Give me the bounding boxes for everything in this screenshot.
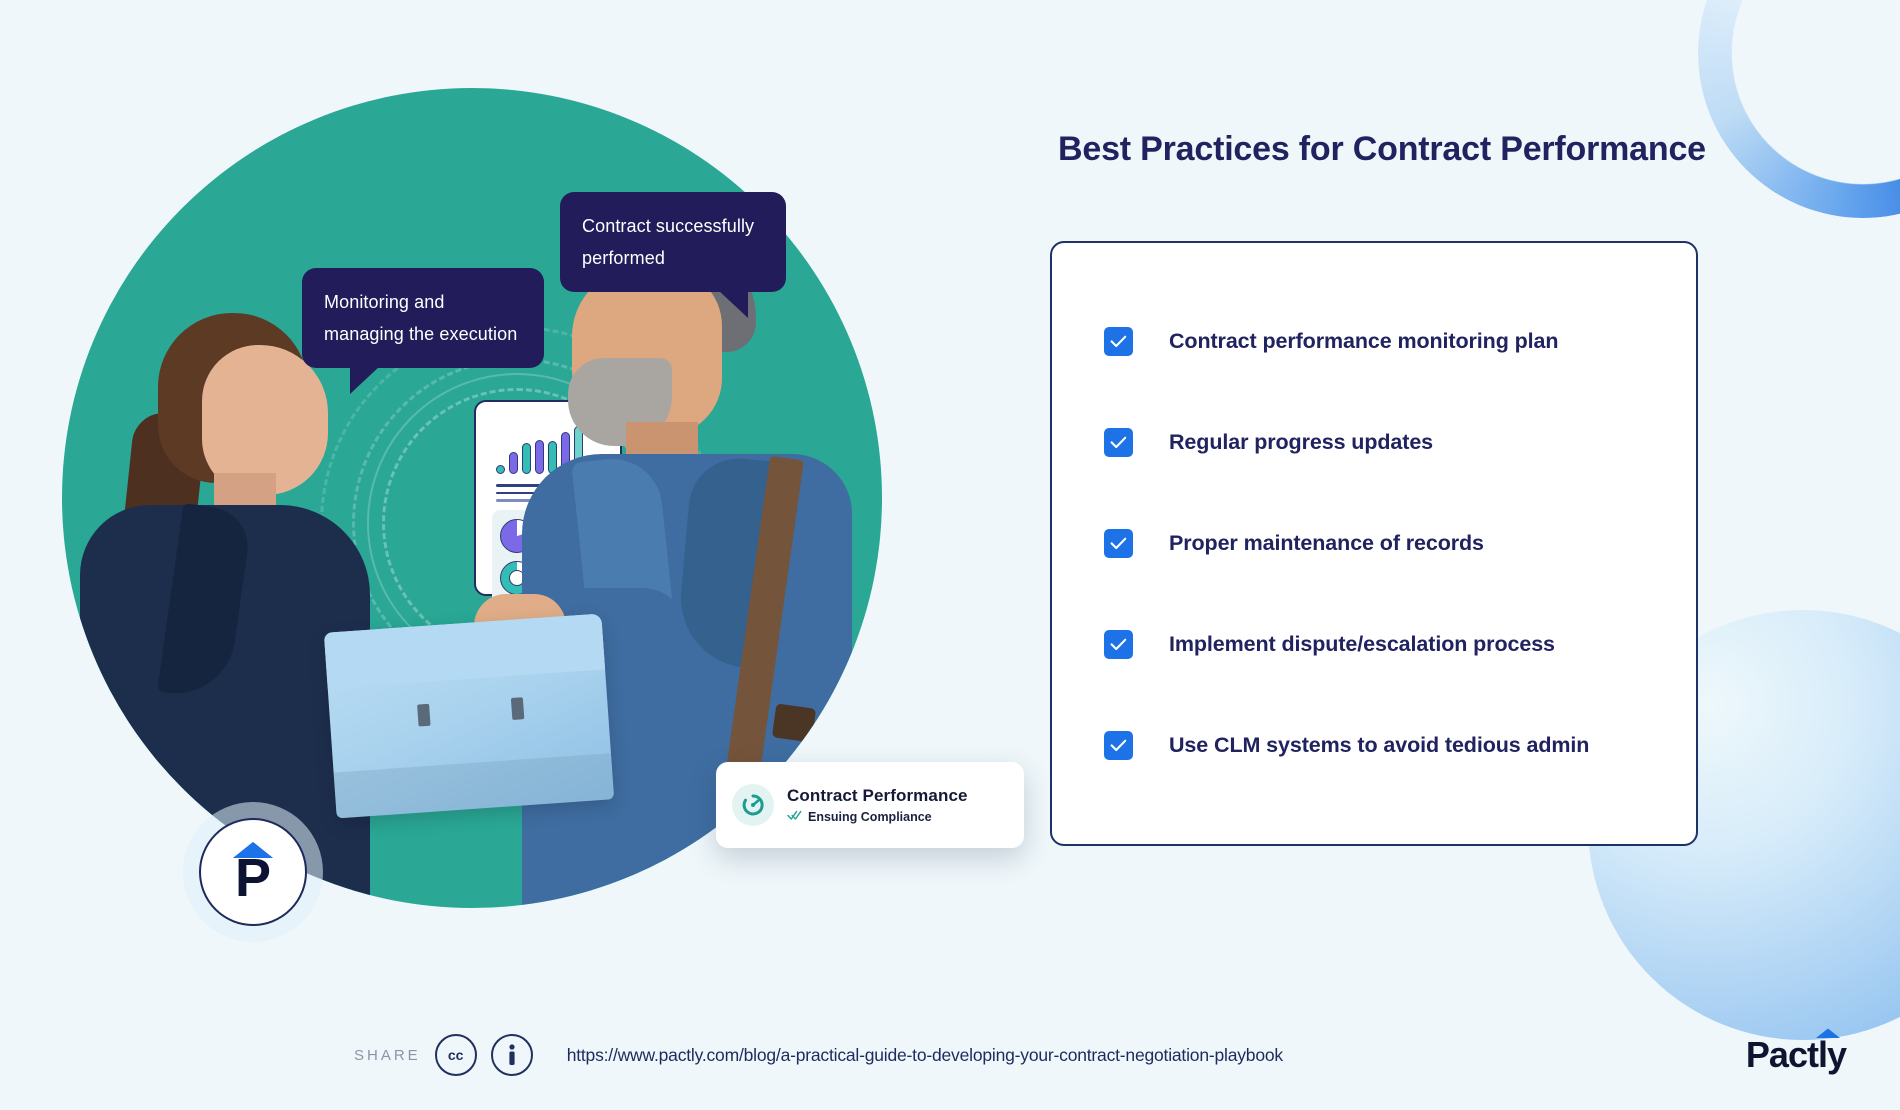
checkbox-checked-icon[interactable] bbox=[1104, 731, 1133, 760]
checklist-item-label: Use CLM systems to avoid tedious admin bbox=[1169, 733, 1589, 758]
infographic-canvas: Monitoring and managing the execution Co… bbox=[0, 0, 1900, 1110]
pactly-chevron-icon bbox=[1815, 1026, 1841, 1044]
speech-bubble-monitoring: Monitoring and managing the execution bbox=[302, 268, 544, 368]
pactly-chevron-icon bbox=[231, 840, 275, 865]
illustration-panel: Monitoring and managing the execution Co… bbox=[52, 70, 882, 920]
contract-performance-notification[interactable]: Contract Performance Ensuing Compliance bbox=[716, 762, 1024, 848]
notification-subtitle: Ensuing Compliance bbox=[808, 810, 932, 824]
notification-title: Contract Performance bbox=[787, 786, 968, 806]
checklist-item-label: Contract performance monitoring plan bbox=[1169, 329, 1558, 354]
checkbox-checked-icon[interactable] bbox=[1104, 630, 1133, 659]
content-panel: Best Practices for Contract Performance … bbox=[1050, 130, 1850, 846]
best-practices-card: Contract performance monitoring plan Reg… bbox=[1050, 241, 1698, 846]
checkbox-checked-icon[interactable] bbox=[1104, 529, 1133, 558]
checklist-item[interactable]: Use CLM systems to avoid tedious admin bbox=[1104, 695, 1696, 796]
checkbox-checked-icon[interactable] bbox=[1104, 327, 1133, 356]
double-check-icon bbox=[787, 810, 802, 824]
speech-bubble-performed: Contract successfully performed bbox=[560, 192, 786, 292]
pactly-badge: P bbox=[199, 818, 307, 926]
creative-commons-label: cc bbox=[448, 1047, 464, 1063]
contract-binder-illustration bbox=[324, 614, 614, 819]
performance-gauge-icon bbox=[732, 784, 774, 826]
checklist-item[interactable]: Implement dispute/escalation process bbox=[1104, 594, 1696, 695]
article-url[interactable]: https://www.pactly.com/blog/a-practical-… bbox=[567, 1045, 1283, 1066]
page-title: Best Practices for Contract Performance bbox=[1058, 130, 1850, 169]
footer-bar: SHARE cc https://www.pactly.com/blog/a-p… bbox=[0, 1000, 1900, 1110]
checklist-item-label: Proper maintenance of records bbox=[1169, 531, 1484, 556]
pactly-logo: Pactly bbox=[1746, 1034, 1846, 1076]
share-label: SHARE bbox=[354, 1047, 421, 1064]
checkbox-checked-icon[interactable] bbox=[1104, 428, 1133, 457]
checklist-item[interactable]: Proper maintenance of records bbox=[1104, 493, 1696, 594]
checklist-item[interactable]: Regular progress updates bbox=[1104, 392, 1696, 493]
checklist-item-label: Implement dispute/escalation process bbox=[1169, 632, 1555, 657]
speech-bubble-monitoring-text: Monitoring and managing the execution bbox=[324, 292, 517, 344]
attribution-person-icon[interactable] bbox=[491, 1034, 533, 1076]
notification-subtitle-row: Ensuing Compliance bbox=[787, 810, 968, 824]
checklist-item-label: Regular progress updates bbox=[1169, 430, 1433, 455]
share-block: SHARE cc https://www.pactly.com/blog/a-p… bbox=[354, 1034, 1283, 1076]
speech-bubble-performed-text: Contract successfully performed bbox=[582, 216, 754, 268]
checklist-item[interactable]: Contract performance monitoring plan bbox=[1104, 291, 1696, 392]
creative-commons-icon[interactable]: cc bbox=[435, 1034, 477, 1076]
